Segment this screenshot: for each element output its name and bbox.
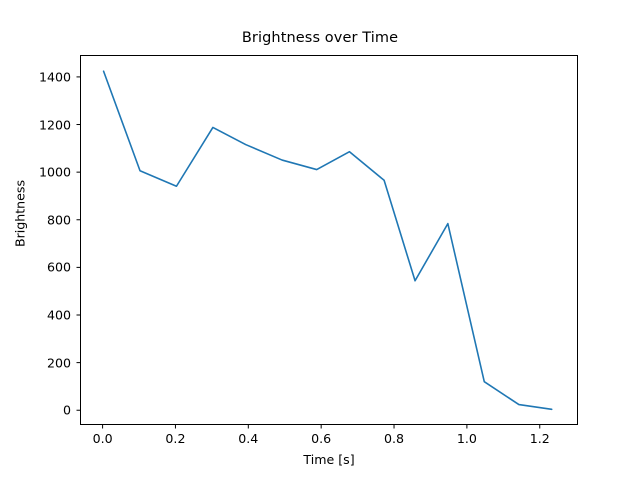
y-tick-label: 1000 [39, 165, 71, 180]
chart-title: Brightness over Time [0, 30, 640, 46]
figure-canvas: Brightness over Time Brightness 02004006… [0, 0, 640, 480]
data-line-series [81, 56, 579, 426]
x-axis-label: Time [s] [80, 452, 578, 467]
y-tick-label: 1200 [39, 117, 71, 132]
y-tick-label: 200 [47, 355, 71, 370]
x-tick-label: 0.0 [93, 431, 113, 446]
x-tick-label: 0.6 [311, 431, 331, 446]
series-line-0 [104, 71, 552, 409]
y-axis-tick-labels: 0200400600800100012001400 [0, 55, 71, 425]
x-tick-label: 0.8 [384, 431, 404, 446]
x-axis-tick-labels: 0.00.20.40.60.81.01.2 [0, 431, 640, 451]
x-tick-label: 0.4 [238, 431, 258, 446]
y-tick-label: 400 [47, 308, 71, 323]
y-tick-label: 0 [63, 403, 71, 418]
x-tick-label: 0.2 [165, 431, 185, 446]
x-tick-label: 1.2 [530, 431, 550, 446]
y-tick-label: 1400 [39, 69, 71, 84]
x-tick-label: 1.0 [457, 431, 477, 446]
y-tick-label: 600 [47, 260, 71, 275]
y-tick-label: 800 [47, 212, 71, 227]
plot-area [80, 55, 578, 425]
